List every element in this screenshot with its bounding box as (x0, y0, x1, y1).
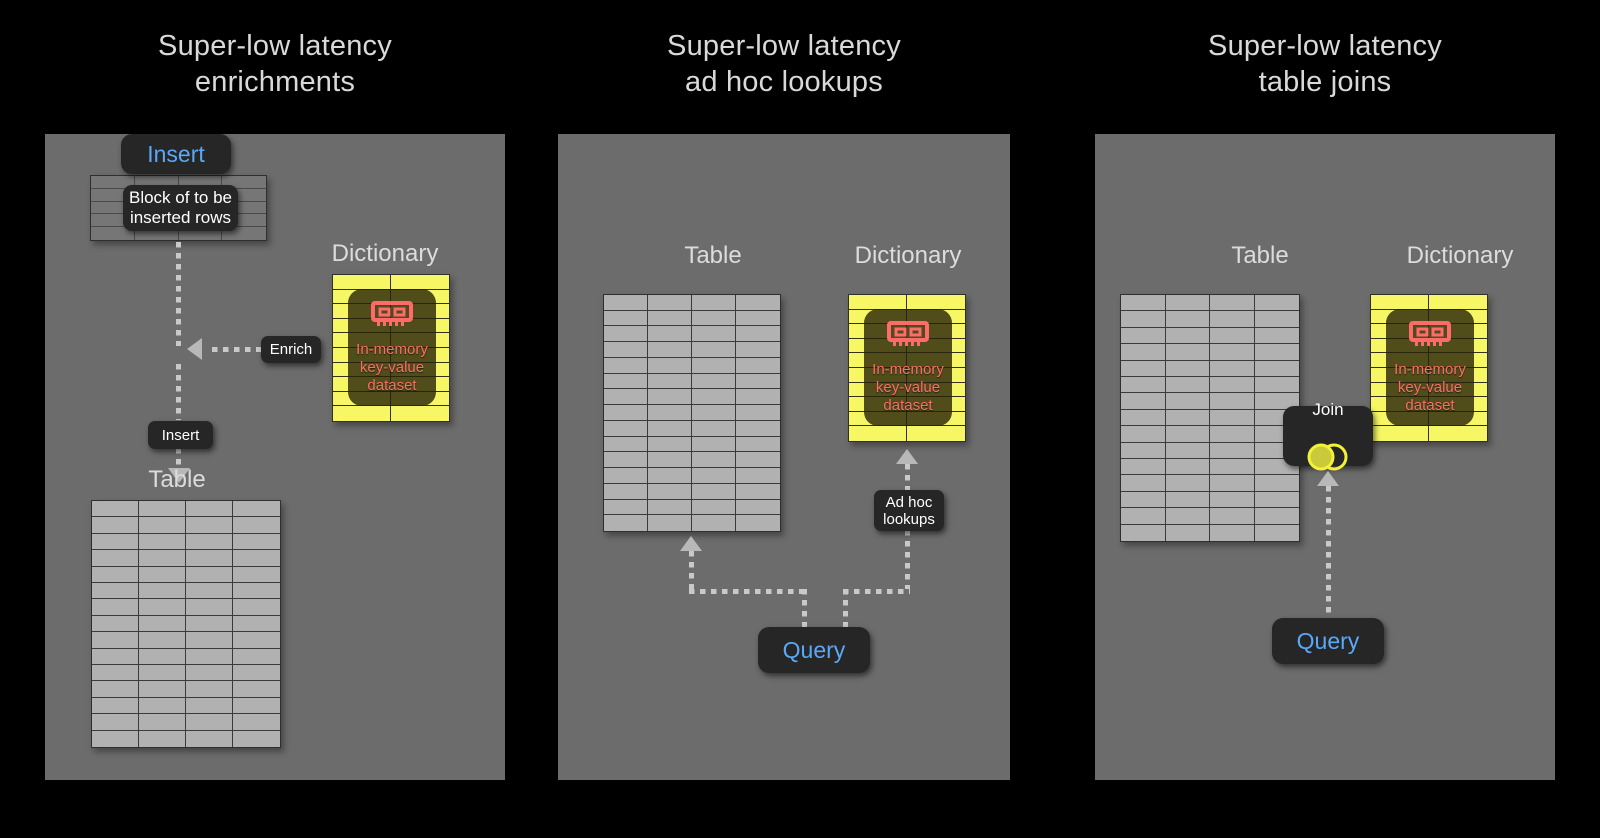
table-cell (92, 665, 139, 681)
table-cell (186, 665, 233, 681)
table-cell (648, 295, 692, 311)
callout-query-3[interactable]: Query (1272, 618, 1384, 664)
table-cell (1121, 311, 1166, 327)
table-cell (648, 468, 692, 484)
table-cell (648, 484, 692, 500)
table-cell (92, 681, 139, 697)
panel-body-table-joins: Table Dictionary (1095, 134, 1555, 780)
connector-lookup-down (905, 530, 910, 589)
table-cell (736, 389, 780, 405)
table-cell (736, 421, 780, 437)
table-cell (1210, 475, 1255, 491)
table-cell (1121, 492, 1166, 508)
table-cell (139, 665, 186, 681)
table-cell (233, 681, 280, 697)
table-cell (604, 500, 648, 516)
table-cell (1255, 508, 1300, 524)
callout-join[interactable]: Join (1283, 406, 1373, 466)
table-cell (736, 374, 780, 390)
table-cell (648, 421, 692, 437)
table-cell (1255, 295, 1300, 311)
table-cell (139, 731, 186, 747)
table-cell (692, 452, 736, 468)
callout-insert-top[interactable]: Insert (121, 134, 231, 174)
table-cell (1255, 475, 1300, 491)
table-cell (1121, 328, 1166, 344)
table-cell (1210, 361, 1255, 377)
memory-chip-icon (1408, 320, 1452, 355)
table-cell (648, 515, 692, 531)
diagram-canvas: Super-low latency enrichments Insert Blo… (0, 0, 1600, 838)
table-cell (139, 714, 186, 730)
dictionary-cell (391, 275, 449, 290)
table-cell (604, 311, 648, 327)
table-cell (139, 567, 186, 583)
table-cell (1255, 525, 1300, 541)
table-cell (233, 501, 280, 517)
table-cell (736, 342, 780, 358)
arrowhead-into-table-2 (680, 536, 702, 551)
table-cell (1210, 328, 1255, 344)
table-cell (186, 534, 233, 550)
table-cell (186, 616, 233, 632)
table-cell (648, 326, 692, 342)
table-cell (1255, 328, 1300, 344)
table-cell (1210, 525, 1255, 541)
table-cell (1166, 508, 1211, 524)
table-cell (139, 501, 186, 517)
table-cell (92, 714, 139, 730)
table-cell (233, 698, 280, 714)
panel-table-joins: Super-low latency table joins Table Dict… (1095, 28, 1555, 788)
table-cell (92, 731, 139, 747)
table-cell (604, 437, 648, 453)
table-grid-2 (603, 294, 781, 532)
table-cell (1210, 508, 1255, 524)
table-cell (233, 632, 280, 648)
table-cell (92, 550, 139, 566)
table-cell (92, 567, 139, 583)
table-cell (692, 405, 736, 421)
table-cell (648, 311, 692, 327)
table-cell (233, 534, 280, 550)
table-cell (1121, 426, 1166, 442)
memory-card-text-2: In-memory key-value dataset (872, 361, 944, 415)
table-cell (139, 599, 186, 615)
table-cell (692, 358, 736, 374)
table-cell (92, 616, 139, 632)
table-cell (92, 649, 139, 665)
table-cell (604, 468, 648, 484)
dictionary-cell (907, 295, 965, 310)
table-cell (692, 500, 736, 516)
table-cell (233, 616, 280, 632)
table-cell (736, 500, 780, 516)
table-cell (1210, 426, 1255, 442)
table-cell (1166, 377, 1211, 393)
panel-title-enrichments: Super-low latency enrichments (45, 28, 505, 100)
table-cell (1255, 344, 1300, 360)
table-cell (1166, 410, 1211, 426)
table-cell (604, 452, 648, 468)
table-cell (1121, 295, 1166, 311)
table-cell (139, 681, 186, 697)
table-cell (648, 405, 692, 421)
table-cell (1166, 426, 1211, 442)
table-cell (1210, 492, 1255, 508)
table-cell (692, 295, 736, 311)
table-cell (692, 468, 736, 484)
table-cell (604, 389, 648, 405)
arrowhead-into-dictionary-2 (896, 449, 918, 464)
connector-query-join (1326, 486, 1331, 619)
panel-enrichments: Super-low latency enrichments Insert Blo… (45, 28, 505, 788)
table-cell (692, 326, 736, 342)
table-cell (1121, 459, 1166, 475)
table-cell (92, 698, 139, 714)
table-cell (736, 311, 780, 327)
dictionary-cell (1371, 426, 1429, 441)
table-cell (92, 517, 139, 533)
panel-body-ad-hoc-lookups: Table Dictionary (558, 134, 1010, 780)
table-cell (736, 295, 780, 311)
table-cell (604, 484, 648, 500)
table-cell (1121, 377, 1166, 393)
join-label: Join (1312, 400, 1343, 420)
table-cell (648, 500, 692, 516)
venn-join-icon (1299, 422, 1357, 477)
table-cell (186, 649, 233, 665)
table-cell (1121, 361, 1166, 377)
table-cell (1121, 443, 1166, 459)
memory-card-3: In-memory key-value dataset (1386, 309, 1474, 426)
dictionary-cell (907, 426, 965, 441)
table-cell (1210, 393, 1255, 409)
table-cell (604, 358, 648, 374)
table-cell (1210, 344, 1255, 360)
table-cell (648, 437, 692, 453)
table-cell (1210, 443, 1255, 459)
table-cell (186, 567, 233, 583)
connector-query-table-horz (689, 589, 807, 594)
table-cell (736, 358, 780, 374)
memory-chip-icon (370, 300, 414, 335)
panel-title-ad-hoc-lookups: Super-low latency ad hoc lookups (558, 28, 1010, 100)
table-cell (692, 421, 736, 437)
table-cell (1121, 508, 1166, 524)
table-cell (233, 583, 280, 599)
table-cell (233, 599, 280, 615)
table-cell (648, 452, 692, 468)
table-cell (736, 484, 780, 500)
table-cell (1166, 295, 1211, 311)
dictionary-cell (1371, 295, 1429, 310)
table-cell (604, 421, 648, 437)
table-cell (692, 437, 736, 453)
table-cell (736, 437, 780, 453)
table-cell (692, 515, 736, 531)
table-cell (92, 501, 139, 517)
callout-query-2[interactable]: Query (758, 627, 870, 673)
table-cell (736, 515, 780, 531)
dictionary-cell (849, 295, 907, 310)
table-cell (1166, 459, 1211, 475)
table-cell (92, 583, 139, 599)
table-cell (92, 534, 139, 550)
arrowhead-into-join (1317, 471, 1339, 486)
table-cell (1166, 492, 1211, 508)
table-cell (604, 515, 648, 531)
table-cell (692, 311, 736, 327)
table-cell (92, 599, 139, 615)
arrowhead-enrich (187, 338, 202, 360)
table-cell (736, 452, 780, 468)
table-cell (1255, 492, 1300, 508)
table-cell (186, 714, 233, 730)
table-cell (1166, 344, 1211, 360)
table-cell (186, 731, 233, 747)
table-cell (1121, 410, 1166, 426)
table-cell (1166, 361, 1211, 377)
table-cell (692, 374, 736, 390)
memory-card-2: In-memory key-value dataset (864, 309, 952, 426)
dictionary-cell (391, 406, 449, 421)
table-cell (736, 326, 780, 342)
callout-ad-hoc-lookups[interactable]: Ad hoc lookups (874, 490, 944, 531)
table-cell (92, 632, 139, 648)
table-cell (139, 550, 186, 566)
table-cell (1210, 459, 1255, 475)
callout-enrich[interactable]: Enrich (261, 336, 321, 363)
table-grid-1 (91, 500, 281, 748)
table-cell (736, 468, 780, 484)
dictionary-cell (333, 275, 391, 290)
table-cell (648, 358, 692, 374)
dictionary-cell (1429, 426, 1487, 441)
table-cell (1166, 525, 1211, 541)
table-cell (186, 632, 233, 648)
callout-insert-bottom[interactable]: Insert (148, 421, 213, 449)
table-cell (186, 550, 233, 566)
table-cell (233, 665, 280, 681)
memory-chip-icon (886, 320, 930, 355)
table-cell (1255, 311, 1300, 327)
memory-card-1: In-memory key-value dataset (348, 289, 436, 406)
table-cell (139, 583, 186, 599)
table-cell (692, 484, 736, 500)
table-cell (1166, 393, 1211, 409)
table-cell (604, 295, 648, 311)
label-dictionary-2: Dictionary (828, 242, 988, 270)
table-cell (604, 326, 648, 342)
table-cell (1255, 361, 1300, 377)
table-cell (1210, 377, 1255, 393)
table-cell (1121, 344, 1166, 360)
table-cell (139, 616, 186, 632)
table-cell (233, 714, 280, 730)
table-cell (139, 517, 186, 533)
table-cell (1166, 475, 1211, 491)
label-dictionary-1: Dictionary (305, 240, 465, 268)
table-cell (604, 342, 648, 358)
table-cell (1121, 475, 1166, 491)
table-cell (692, 342, 736, 358)
table-cell (1255, 377, 1300, 393)
table-cell (186, 599, 233, 615)
connector-query-table-vert (689, 551, 694, 591)
table-cell (1210, 311, 1255, 327)
panel-body-enrichments: Insert Block of to be inserted rows Enri… (45, 134, 505, 780)
table-cell (1121, 393, 1166, 409)
table-cell (604, 405, 648, 421)
table-cell (233, 567, 280, 583)
table-cell (233, 517, 280, 533)
table-cell (186, 517, 233, 533)
connector-query-dict-horz (843, 589, 910, 594)
panel-title-table-joins: Super-low latency table joins (1095, 28, 1555, 100)
table-cell (139, 632, 186, 648)
connector-enrich-to-insert (176, 364, 181, 420)
table-cell (1121, 525, 1166, 541)
label-table-3: Table (1135, 242, 1385, 270)
dictionary-cell (849, 426, 907, 441)
table-cell (233, 649, 280, 665)
table-cell (648, 389, 692, 405)
connector-lookup-up (905, 464, 910, 491)
table-cell (648, 342, 692, 358)
table-cell (1166, 328, 1211, 344)
dictionary-cell (333, 406, 391, 421)
panel-ad-hoc-lookups: Super-low latency ad hoc lookups Table D… (558, 28, 1010, 788)
connector-block-to-enrich (176, 242, 181, 346)
table-cell (186, 501, 233, 517)
memory-card-text-1: In-memory key-value dataset (356, 341, 428, 395)
table-cell (139, 534, 186, 550)
table-cell (648, 374, 692, 390)
connector-enrich-left (212, 347, 262, 352)
table-cell (1166, 443, 1211, 459)
memory-card-text-3: In-memory key-value dataset (1394, 361, 1466, 415)
label-table-1: Table (97, 466, 257, 494)
table-cell (736, 405, 780, 421)
table-cell (139, 698, 186, 714)
table-cell (1210, 295, 1255, 311)
table-cell (186, 583, 233, 599)
table-cell (186, 698, 233, 714)
table-cell (139, 649, 186, 665)
dictionary-cell (1429, 295, 1487, 310)
label-table-2: Table (613, 242, 813, 270)
callout-block-of-rows[interactable]: Block of to be inserted rows (123, 185, 238, 231)
table-cell (186, 681, 233, 697)
table-cell (1210, 410, 1255, 426)
table-cell (233, 731, 280, 747)
table-cell (692, 389, 736, 405)
table-cell (233, 550, 280, 566)
table-grid-3 (1120, 294, 1300, 542)
table-cell (604, 374, 648, 390)
label-dictionary-3: Dictionary (1370, 242, 1550, 270)
table-cell (1166, 311, 1211, 327)
